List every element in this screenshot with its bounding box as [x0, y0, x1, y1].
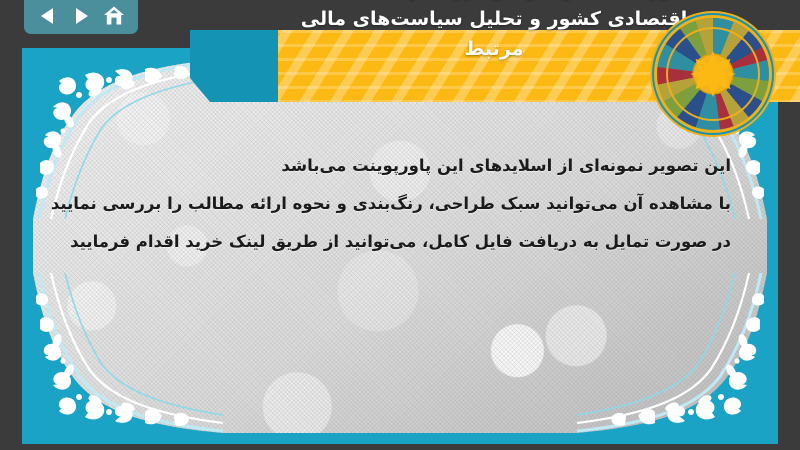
triangle-left-icon: [37, 5, 59, 27]
presentation-slide: این تصویر نمونه‌ای از اسلایدهای این پاور…: [22, 48, 778, 444]
body-line-3: در صورت تمایل به دریافت فایل کامل، می‌تو…: [91, 223, 731, 261]
slide-navigation-bar: [24, 0, 138, 34]
home-button[interactable]: [101, 3, 127, 29]
next-slide-button[interactable]: [68, 3, 94, 29]
banner-tab-shape: [190, 30, 282, 102]
triangle-right-icon: [70, 5, 92, 27]
slide-content-area: این تصویر نمونه‌ای از اسلایدهای این پاور…: [33, 59, 767, 433]
body-line-2: با مشاهده آن می‌توانید سبک طراحی، رنگ‌بن…: [91, 185, 731, 223]
body-line-1: این تصویر نمونه‌ای از اسلایدهای این پاور…: [91, 147, 731, 185]
home-icon: [102, 4, 126, 28]
title-line-1: بررسی نقش قوانین ارزی در حفظ ثبات: [234, 0, 754, 4]
arabesque-corner-bottom-right-icon: [577, 273, 767, 433]
slide-body-text: این تصویر نمونه‌ای از اسلایدهای این پاور…: [91, 147, 731, 261]
persian-medallion-ornament-icon: [657, 18, 769, 130]
previous-slide-button[interactable]: [35, 3, 61, 29]
arabesque-corner-bottom-left-icon: [33, 273, 223, 433]
